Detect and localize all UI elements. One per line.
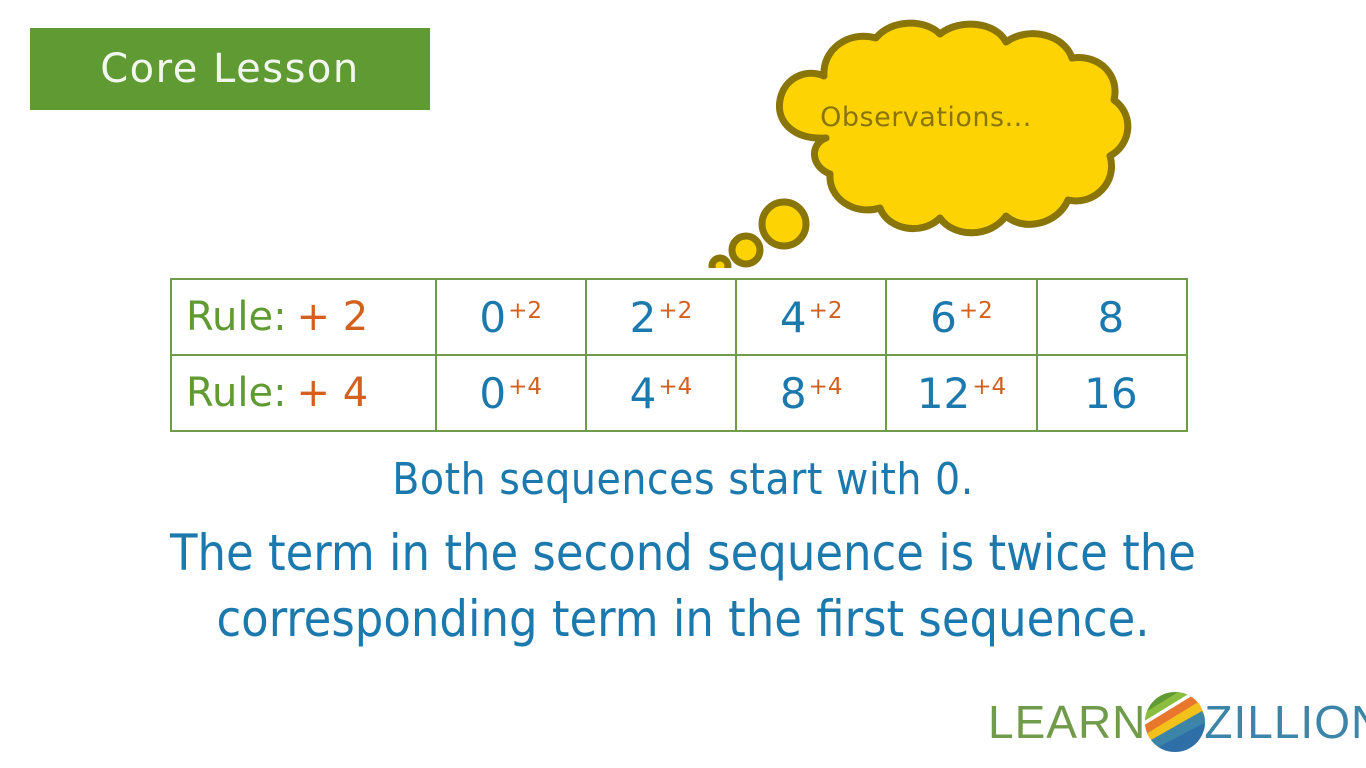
- term-superscript: +4: [809, 374, 843, 400]
- term-cell: 4+4: [586, 355, 736, 431]
- rule-label: Rule:: [186, 370, 287, 416]
- logo-word-zillion: ZILLION: [1204, 695, 1366, 749]
- thought-bubble: Observations...: [706, 18, 1146, 268]
- rule-operator: + 2: [297, 294, 369, 340]
- term-value: 12: [917, 369, 970, 418]
- term-cell: 0+2: [436, 279, 586, 355]
- observations-text-block: Both sequences start with 0. The term in…: [0, 452, 1366, 652]
- observation-line-one: Both sequences start with 0.: [0, 452, 1366, 508]
- term-cell: 6+2: [886, 279, 1036, 355]
- term-value: 0: [479, 369, 506, 418]
- term-cell: 0+4: [436, 355, 586, 431]
- rule-label: Rule:: [186, 294, 287, 340]
- table-row: Rule:+ 4 0+4 4+4 8+4 12+4 16: [171, 355, 1187, 431]
- rule-cell: Rule:+ 2: [171, 279, 436, 355]
- term-cell: 12+4: [886, 355, 1036, 431]
- rule-operator: + 4: [297, 370, 369, 416]
- term-superscript: +4: [508, 374, 542, 400]
- globe-icon: [1142, 689, 1208, 755]
- term-cell: 4+2: [736, 279, 886, 355]
- term-cell: 2+2: [586, 279, 736, 355]
- term-value: 16: [1084, 369, 1137, 418]
- sequence-table: Rule:+ 2 0+2 2+2 4+2 6+2 8 Rule:+ 4: [170, 278, 1188, 432]
- observation-paragraph-line-two: corresponding term in the first sequence…: [0, 586, 1366, 652]
- term-superscript: +2: [809, 298, 843, 324]
- logo-word-learn: LEARN: [988, 695, 1146, 749]
- term-value: 8: [1097, 293, 1124, 342]
- observation-paragraph: The term in the second sequence is twice…: [0, 520, 1366, 652]
- learnzillion-logo: LEARN ZILLION: [988, 692, 1366, 752]
- term-superscript: +2: [658, 298, 692, 324]
- term-value: 4: [780, 293, 807, 342]
- thought-bubble-shape: [706, 18, 1146, 268]
- observation-paragraph-line-one: The term in the second sequence is twice…: [0, 520, 1366, 586]
- term-superscript: +2: [508, 298, 542, 324]
- term-cell: 16: [1037, 355, 1187, 431]
- term-value: 6: [930, 293, 957, 342]
- table-row: Rule:+ 2 0+2 2+2 4+2 6+2 8: [171, 279, 1187, 355]
- core-lesson-banner: Core Lesson: [30, 28, 430, 110]
- term-value: 4: [630, 369, 657, 418]
- term-value: 0: [479, 293, 506, 342]
- rule-cell: Rule:+ 4: [171, 355, 436, 431]
- term-superscript: +2: [959, 298, 993, 324]
- term-value: 8: [780, 369, 807, 418]
- term-superscript: +4: [972, 374, 1006, 400]
- term-value: 2: [630, 293, 657, 342]
- term-cell: 8: [1037, 279, 1187, 355]
- core-lesson-label: Core Lesson: [100, 46, 360, 92]
- term-superscript: +4: [658, 374, 692, 400]
- term-cell: 8+4: [736, 355, 886, 431]
